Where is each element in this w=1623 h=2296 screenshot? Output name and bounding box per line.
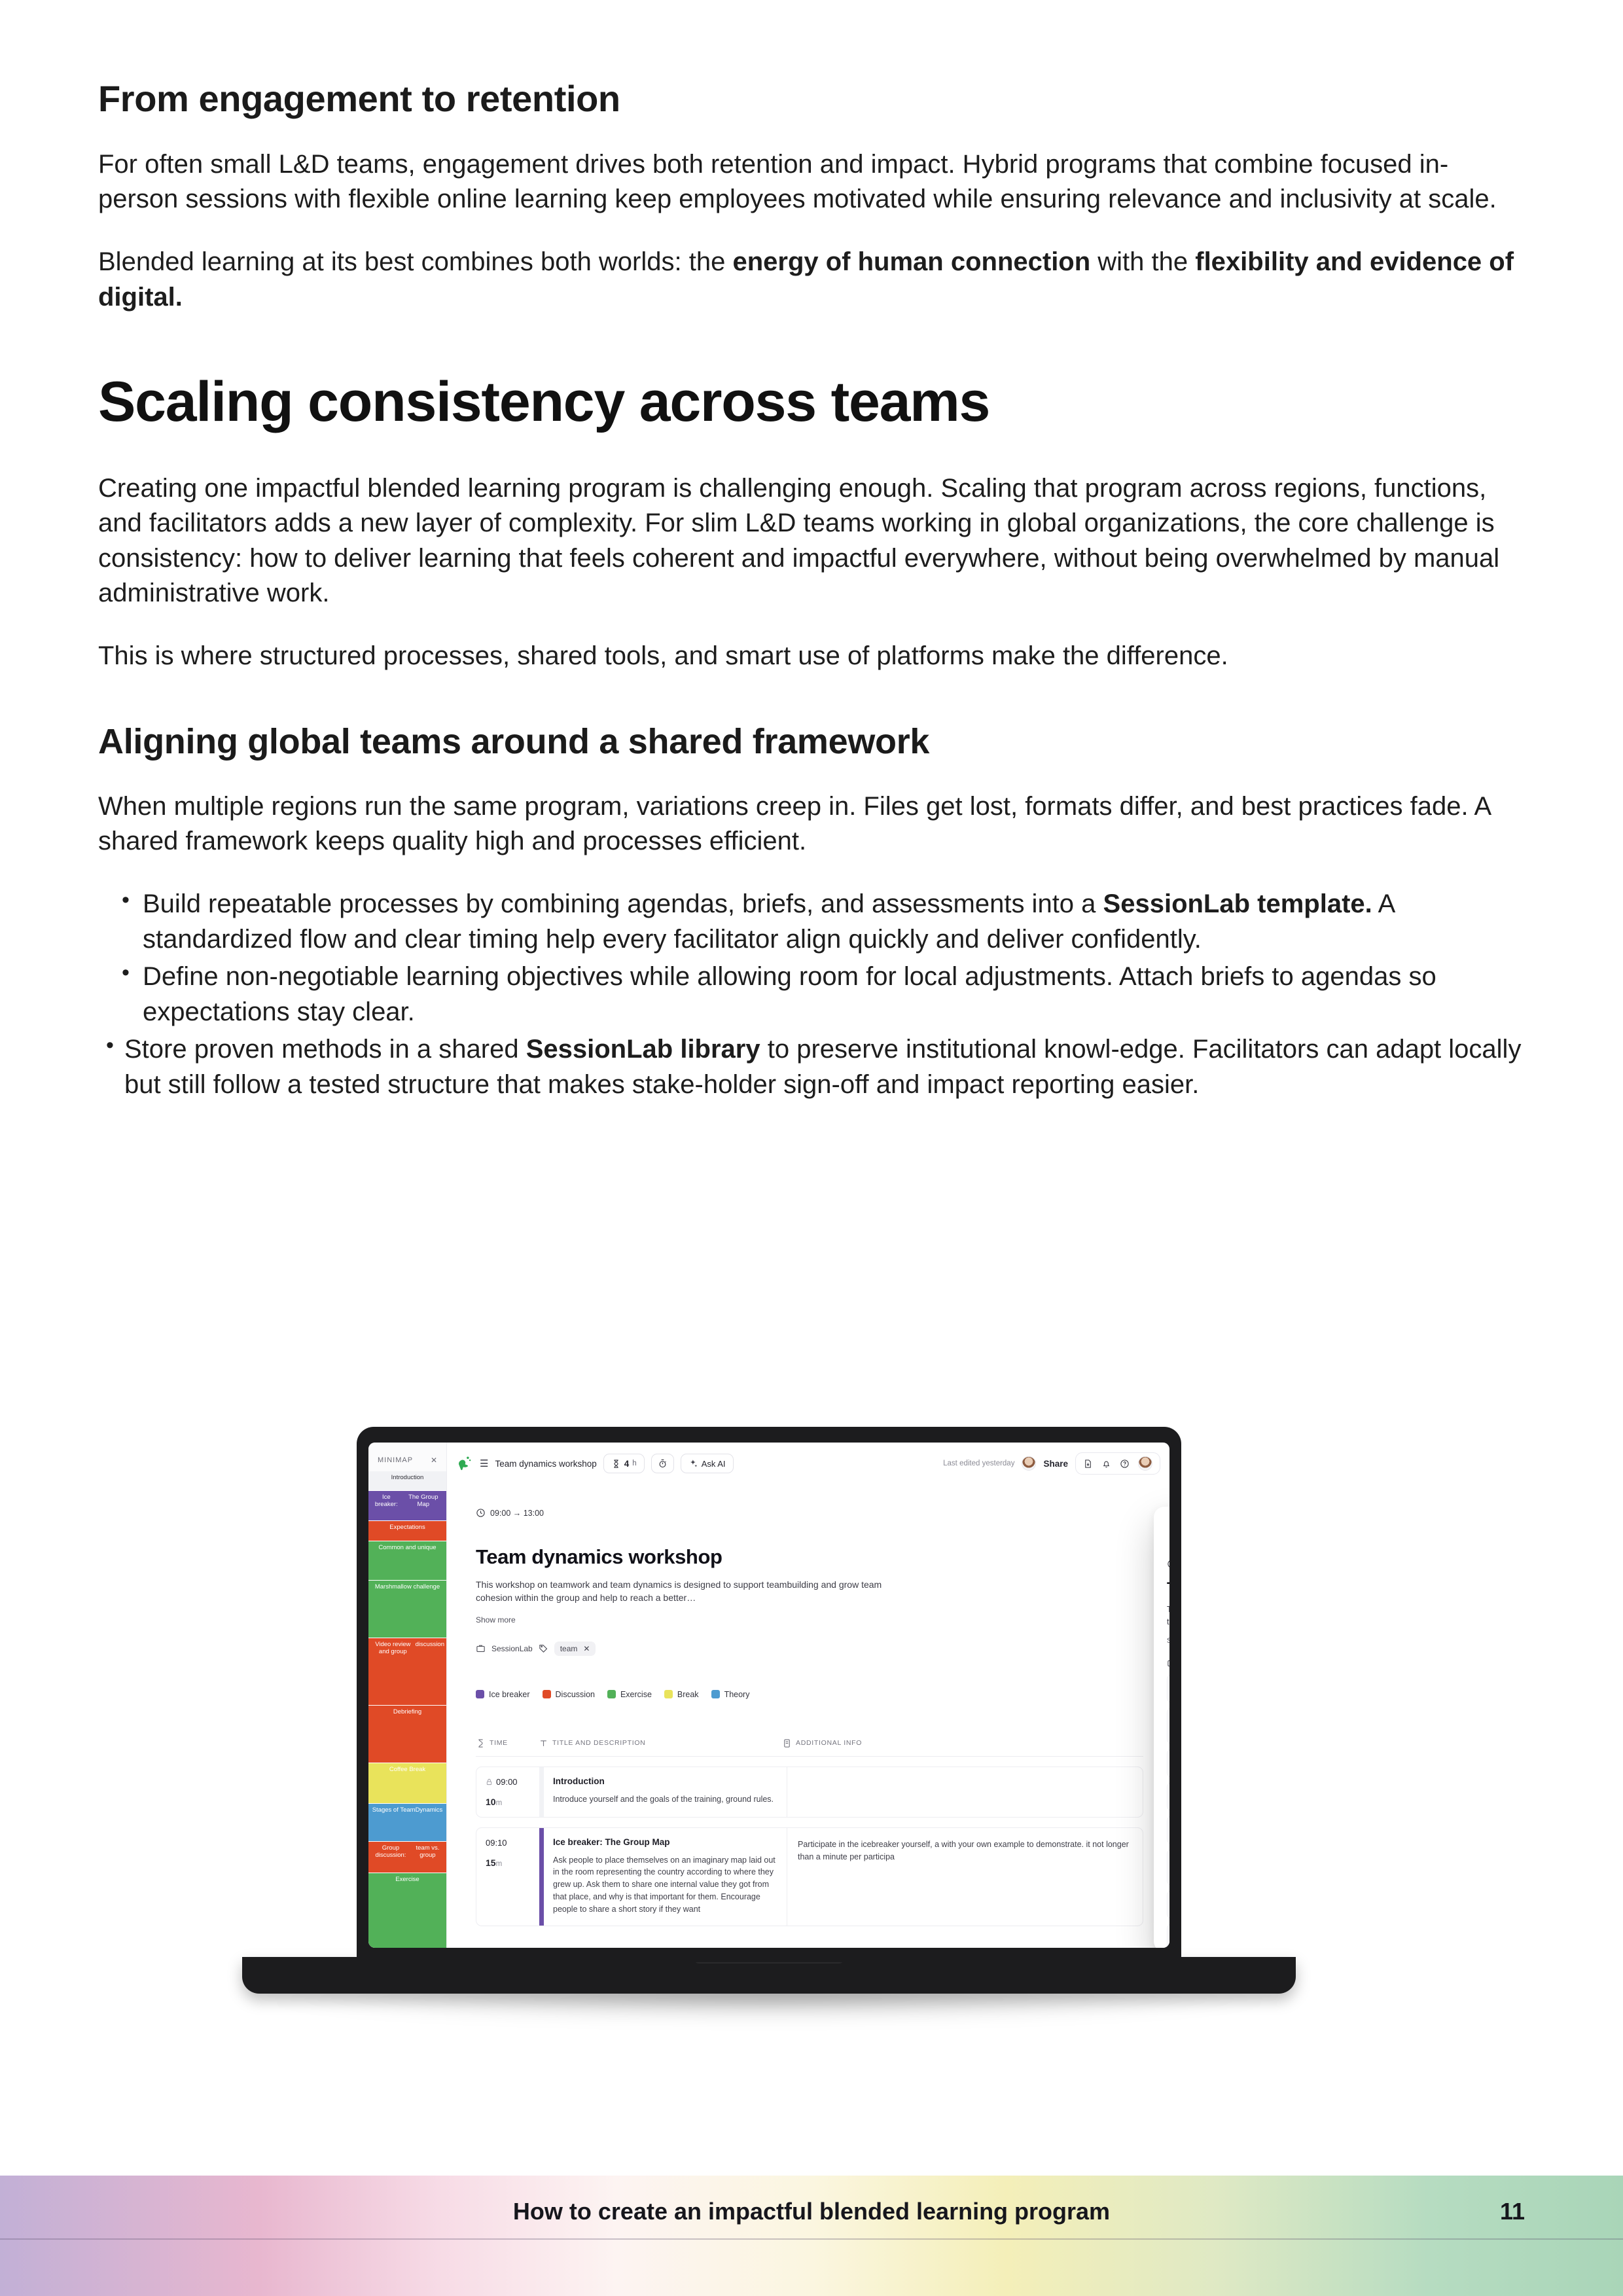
clock-icon — [476, 1508, 486, 1518]
minimap-block-label: discussion — [416, 1641, 444, 1648]
laptop-body: MINIMAP ✕ IntroductionIce breaker:The Gr… — [357, 1427, 1181, 1962]
sessionlab-logo-icon — [456, 1455, 473, 1472]
minimap-block[interactable]: Group discussion:team vs. group — [368, 1842, 446, 1873]
row-duration-unit: m — [496, 1799, 503, 1807]
minimap-block[interactable]: Expectations — [368, 1521, 446, 1541]
row-info-cell — [787, 1767, 1143, 1817]
row-time-cell: 09:0010m — [476, 1767, 539, 1817]
minimap-block-label: Stages of Team — [372, 1806, 416, 1814]
minimap-block[interactable]: Introduction — [368, 1471, 446, 1491]
legend-label: Exercise — [620, 1690, 652, 1699]
minimap-block-label: Debriefing — [393, 1708, 421, 1715]
column-header-time: TIME — [476, 1738, 539, 1748]
legend-item: Exercise — [607, 1690, 652, 1699]
panel-row[interactable]: 09:00Introduction10m — [1167, 1674, 1169, 1703]
session-tags: SessionLab team ✕ — [476, 1641, 1143, 1656]
row-duration: 15m — [486, 1857, 539, 1868]
minimap-block-label: Group discussion: — [370, 1844, 411, 1859]
row-title-cell: Ice breaker: The Group MapAsk people to … — [544, 1828, 787, 1926]
row-duration-unit: m — [496, 1860, 503, 1868]
sessionlab-logo-icon — [1167, 1521, 1169, 1538]
hourglass-icon — [611, 1459, 621, 1469]
minimap-label: MINIMAP — [378, 1456, 413, 1464]
framework-bullet-list: Build repeatable processes by combining … — [98, 887, 1525, 1103]
panel-time-range: 09:00 → 14:00 — [1167, 1559, 1169, 1569]
session-description: This workshop on teamwork and team dynam… — [476, 1578, 895, 1605]
legend-swatch — [607, 1690, 616, 1698]
minimap-block[interactable]: Marshmallow challenge — [368, 1581, 446, 1638]
document-page: From engagement to retention For often s… — [0, 0, 1623, 2296]
minimap-sidebar[interactable]: MINIMAP ✕ IntroductionIce breaker:The Gr… — [368, 1443, 447, 1948]
article-content: From engagement to retention For often s… — [98, 79, 1525, 1105]
lock-icon — [486, 1778, 493, 1785]
minimap-block-label: Ice breaker: — [370, 1494, 402, 1508]
panel-row-time: 11:15 — [1168, 1934, 1169, 1942]
minimap-block[interactable]: Video review and groupdiscussion — [368, 1638, 446, 1706]
row-title-cell: IntroductionIntroduce yourself and the g… — [544, 1767, 787, 1817]
tag-label: team — [560, 1644, 578, 1653]
duration-unit: h — [632, 1460, 636, 1467]
minimap-block-label: Exercise — [395, 1876, 419, 1883]
close-icon[interactable]: ✕ — [431, 1456, 437, 1465]
minimap-block-label: Common and unique — [378, 1544, 436, 1551]
legend-label: Discussion — [556, 1690, 595, 1699]
minimap-block[interactable]: Common and unique — [368, 1541, 446, 1581]
stopwatch-icon — [658, 1459, 668, 1469]
panel-row[interactable]: 09:10Ice breaker: The Group Map15m — [1167, 1708, 1169, 1744]
panel-row-time: 09:10 — [1168, 1722, 1169, 1730]
minimap-block[interactable]: Ice breaker:The Group Map — [368, 1491, 446, 1521]
document-title[interactable]: Team dynamics workshop — [495, 1459, 596, 1469]
user-avatar[interactable] — [1138, 1456, 1152, 1471]
space-name[interactable]: SessionLab — [491, 1644, 533, 1653]
para2-pre: Blended learning at its best combines bo… — [98, 247, 732, 276]
row-color-bar — [539, 1767, 544, 1817]
time-range-label: 09:00 → 13:00 — [490, 1509, 544, 1518]
color-legend: Ice breakerDiscussionExerciseBreakTheory — [476, 1690, 1143, 1699]
paragraph-structured: This is where structured processes, shar… — [98, 639, 1525, 674]
panel-row[interactable]: 09:55Marshmallow challenge30m — [1167, 1816, 1169, 1844]
column-time-label: TIME — [490, 1739, 508, 1747]
row-duration: 10m — [486, 1797, 539, 1807]
minimap-block[interactable]: Stages of TeamDynamics — [368, 1804, 446, 1842]
briefcase-icon — [1167, 1658, 1169, 1668]
app-screen: MINIMAP ✕ IntroductionIce breaker:The Gr… — [368, 1443, 1169, 1948]
minimap-block[interactable]: Exercise — [368, 1873, 446, 1948]
share-button[interactable]: Share — [1043, 1459, 1068, 1469]
minimap-block-label: Video review and group — [370, 1641, 416, 1655]
panel-row-time: 09:25 — [1168, 1759, 1169, 1767]
para2-bold-energy: energy of human connection — [732, 247, 1090, 276]
legend-label: Break — [677, 1690, 699, 1699]
minimap-block[interactable]: Coffee Break — [368, 1763, 446, 1804]
legend-swatch — [664, 1690, 673, 1698]
row-time-cell: 09:1015m — [476, 1828, 539, 1926]
panel-topbar — [1167, 1521, 1169, 1542]
agenda-rows: 09:0010mIntroductionIntroduce yourself a… — [476, 1767, 1143, 1927]
minimap-block-label: Coffee Break — [389, 1766, 425, 1773]
topbar-right-group: Last edited yesterday Share — [943, 1452, 1160, 1475]
row-title: Ice breaker: The Group Map — [553, 1837, 776, 1847]
session-title[interactable]: Team dynamics workshop — [476, 1545, 1143, 1569]
note-icon — [782, 1738, 792, 1748]
bullet-2-bold: SessionLab library — [526, 1035, 760, 1064]
session-time-range: 09:00 → 13:00 — [476, 1508, 1143, 1518]
subsection-heading-aligning: Aligning global teams around a shared fr… — [98, 721, 1525, 762]
panel-row-time: 09:35 — [1168, 1793, 1169, 1801]
row-description: Ask people to place themselves on an ima… — [553, 1854, 776, 1916]
row-start-time: 09:00 — [486, 1777, 539, 1787]
row-color-bar — [539, 1828, 544, 1926]
page-number: 11 — [1500, 2198, 1525, 2225]
duration-pill[interactable]: 4h — [603, 1454, 645, 1473]
minimap-blocks: IntroductionIce breaker:The Group MapExp… — [368, 1471, 446, 1948]
panel-row[interactable]: 09:25Expectations10m — [1167, 1749, 1169, 1778]
hourglass-icon — [476, 1738, 486, 1748]
row-time-label: 09:00 — [496, 1777, 518, 1787]
legend-item: Theory — [711, 1690, 750, 1699]
panel-row-time: 09:00 — [1168, 1685, 1169, 1693]
legend-swatch — [543, 1690, 551, 1698]
page-title-scaling: Scaling consistency across teams — [98, 371, 1525, 433]
footer-divider — [0, 2238, 1623, 2240]
row-info-cell: Participate in the icebreaker yourself, … — [787, 1828, 1143, 1926]
minimap-block-label: The Group Map — [402, 1494, 444, 1508]
panel-row[interactable]: 09:35Common and Unique20m — [1167, 1782, 1169, 1811]
tag-icon — [539, 1643, 548, 1653]
briefcase-icon — [476, 1643, 486, 1653]
bullet-2-pre: Store proven methods in a shared — [124, 1035, 526, 1064]
export-icon[interactable] — [1083, 1459, 1093, 1469]
paragraph-blended: Blended learning at its best combines bo… — [98, 245, 1525, 315]
list-item: Build repeatable processes by combining … — [98, 887, 1525, 957]
paragraph-scaling: Creating one impactful blended learning … — [98, 471, 1525, 611]
tag-chip[interactable]: team ✕ — [554, 1641, 596, 1656]
minimap-block[interactable]: Debriefing — [368, 1706, 446, 1763]
menu-icon[interactable]: ☰ — [480, 1458, 488, 1469]
minimap-block-label: team vs. group — [411, 1844, 444, 1859]
list-item: Store proven methods in a shared Session… — [98, 1032, 1525, 1102]
ask-ai-label: Ask AI — [702, 1459, 726, 1469]
panel-row-time: 09:55 — [1168, 1826, 1169, 1834]
agenda-table-header: TIME TITLE AND DESCRIPTION ADDITIONAL IN… — [476, 1738, 1143, 1757]
minimap-block-label: Marshmallow challenge — [375, 1583, 440, 1590]
list-item: Define non-negotiable learning objective… — [98, 960, 1525, 1030]
paragraph-regions: When multiple regions run the same progr… — [98, 789, 1525, 859]
column-info-label: ADDITIONAL INFO — [796, 1739, 862, 1747]
minimap-block-label: Dynamics — [416, 1806, 443, 1814]
bullet-1-pre: Define non-negotiable learning objective… — [143, 962, 1436, 1026]
row-time-label: 09:10 — [486, 1838, 507, 1848]
legend-swatch — [711, 1690, 720, 1698]
sparkles-icon — [688, 1459, 698, 1469]
column-header-info: ADDITIONAL INFO — [782, 1738, 862, 1748]
panel-row[interactable]: 10:45Debriefing30m — [1167, 1890, 1169, 1919]
clock-icon — [1167, 1559, 1169, 1569]
row-description: Introduce yourself and the goals of the … — [553, 1793, 776, 1806]
duration-value: 4 — [624, 1459, 630, 1469]
panel-description: This workshop on teamwork and team dynam… — [1167, 1604, 1169, 1628]
panel-show-more-link[interactable]: Show more — [1167, 1637, 1169, 1645]
row-start-time: 09:10 — [486, 1838, 539, 1848]
text-icon — [539, 1738, 548, 1748]
agenda-document: 09:00 → 13:00 Team dynamics workshop Thi… — [447, 1484, 1169, 1948]
app-topbar: ☰ Team dynamics workshop 4h Ask AI — [447, 1443, 1169, 1484]
legend-item: Discussion — [543, 1690, 595, 1699]
table-row[interactable]: 09:1015mIce breaker: The Group MapAsk pe… — [476, 1827, 1143, 1927]
bell-icon[interactable] — [1101, 1459, 1111, 1469]
timer-button[interactable] — [651, 1454, 674, 1473]
panel-row-time: 10:25 — [1168, 1863, 1169, 1871]
panel-title: Team Dynamics Workshop — [1167, 1579, 1169, 1596]
last-edited-label: Last edited yesterday — [943, 1460, 1014, 1467]
para2-mid: with the — [1090, 247, 1195, 276]
floating-agenda-panel: 09:00 → 14:00 Team Dynamics Workshop Thi… — [1154, 1507, 1169, 1948]
legend-item: Break — [664, 1690, 699, 1699]
column-header-title: TITLE AND DESCRIPTION — [539, 1738, 782, 1748]
column-title-label: TITLE AND DESCRIPTION — [552, 1739, 645, 1747]
paragraph-engagement: For often small L&D teams, engagement dr… — [98, 147, 1525, 217]
panel-tags: SessionLab remote ✕ — [1167, 1657, 1169, 1670]
legend-item: Ice breaker — [476, 1690, 530, 1699]
panel-agenda-rows: 09:00Introduction10m09:10Ice breaker: Th… — [1167, 1674, 1169, 1948]
minimap-block-label: Introduction — [391, 1474, 424, 1481]
row-title: Introduction — [553, 1776, 776, 1786]
tag-close-icon[interactable]: ✕ — [583, 1644, 590, 1653]
panel-row[interactable]: 11:15Coffee Break20m — [1167, 1924, 1169, 1948]
topbar-icon-group — [1075, 1452, 1160, 1475]
legend-swatch — [476, 1690, 484, 1698]
ask-ai-button[interactable]: Ask AI — [681, 1454, 734, 1473]
bullet-0-bold: SessionLab template. — [1103, 889, 1372, 918]
panel-row[interactable]: 10:25Video review and group discussion20… — [1167, 1849, 1169, 1886]
laptop-mockup: MINIMAP ✕ IntroductionIce breaker:The Gr… — [236, 1427, 1335, 2042]
minimap-header: MINIMAP ✕ — [368, 1443, 446, 1471]
page-footer: How to create an impactful blended learn… — [0, 2176, 1623, 2296]
panel-row-time: 10:45 — [1168, 1901, 1169, 1909]
help-icon[interactable] — [1120, 1459, 1130, 1469]
show-more-link[interactable]: Show more — [476, 1615, 1143, 1624]
table-row[interactable]: 09:0010mIntroductionIntroduce yourself a… — [476, 1767, 1143, 1818]
legend-label: Theory — [724, 1690, 750, 1699]
legend-label: Ice breaker — [489, 1690, 530, 1699]
bullet-0-pre: Build repeatable processes by combining … — [143, 889, 1103, 918]
minimap-block-label: Expectations — [389, 1524, 425, 1531]
section-heading-engagement: From engagement to retention — [98, 79, 1525, 120]
laptop-base — [242, 1957, 1296, 1994]
avatar[interactable] — [1022, 1456, 1036, 1471]
footer-title: How to create an impactful blended learn… — [0, 2198, 1623, 2225]
